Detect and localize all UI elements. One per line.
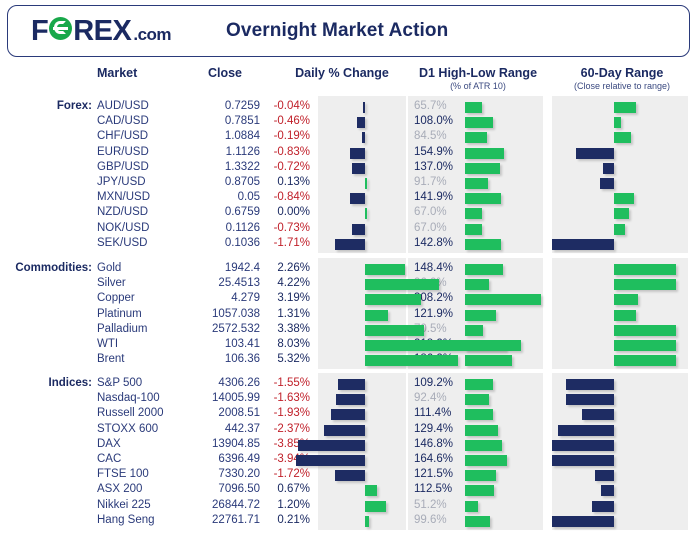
daily-change-bar (350, 148, 365, 159)
row-close-value: 22761.71 (170, 514, 260, 526)
column-header-d1-range: D1 High-Low Range (% of ATR 10) (408, 66, 548, 91)
row-d1-range-value: 154.9% (414, 146, 460, 158)
sixty-day-range-bar (614, 355, 676, 366)
table-row: NOK/USD0.1126-0.73%67.0% (0, 222, 697, 237)
row-market-name: DAX (97, 438, 121, 450)
daily-change-bar (365, 264, 405, 275)
d1-range-bar (465, 470, 496, 481)
row-close-value: 2008.51 (170, 407, 260, 419)
d1-range-bar (465, 455, 507, 466)
table-row: ASX 2007096.500.67%112.5% (0, 483, 697, 498)
row-daily-change-value: 3.19% (262, 292, 310, 304)
sixty-day-range-bar (582, 409, 614, 420)
d1-range-bar (465, 193, 501, 204)
row-daily-change-value: -0.84% (262, 191, 310, 203)
row-close-value: 4306.26 (170, 377, 260, 389)
table-row: JPY/USD0.87050.13%91.7% (0, 176, 697, 191)
column-header-market: Market (97, 66, 182, 80)
d1-range-bar (465, 440, 502, 451)
row-d1-range-value: 99.6% (414, 514, 460, 526)
row-market-name: Platinum (97, 308, 142, 320)
row-market-name: ASX 200 (97, 483, 142, 495)
row-daily-change-value: -0.83% (262, 146, 310, 158)
daily-change-bar (335, 239, 365, 250)
sixty-day-range-bar (566, 379, 614, 390)
row-close-value: 0.1126 (170, 222, 260, 234)
row-market-name: STOXX 600 (97, 423, 158, 435)
row-d1-range-value: 308.2% (414, 292, 460, 304)
row-close-value: 0.7259 (170, 100, 260, 112)
row-market-name: NZD/USD (97, 206, 148, 218)
daily-change-bar (365, 501, 386, 512)
row-daily-change-value: 0.13% (262, 176, 310, 188)
row-d1-range-value: 67.0% (414, 222, 460, 234)
row-daily-change-value: -1.71% (262, 237, 310, 249)
sixty-day-range-bar (566, 394, 614, 405)
daily-change-bar (352, 224, 365, 235)
row-close-value: 0.1036 (170, 237, 260, 249)
sixty-day-range-bar (552, 455, 614, 466)
row-d1-range-value: 67.0% (414, 206, 460, 218)
page-title: Overnight Market Action (226, 20, 448, 42)
row-market-name: SEK/USD (97, 237, 148, 249)
row-close-value: 1942.4 (170, 262, 260, 274)
row-d1-range-value: 141.9% (414, 191, 460, 203)
d1-range-bar (465, 501, 478, 512)
d1-range-bar (465, 294, 541, 305)
row-d1-range-value: 92.4% (414, 392, 460, 404)
row-daily-change-value: 3.38% (262, 323, 310, 335)
column-header-d1-range-sub: (% of ATR 10) (408, 81, 548, 91)
row-daily-change-value: 1.31% (262, 308, 310, 320)
sixty-day-range-bar (595, 470, 614, 481)
sixty-day-range-bar (614, 294, 638, 305)
d1-range-bar (465, 425, 498, 436)
row-market-name: Brent (97, 353, 125, 365)
sixty-day-range-bar (601, 485, 614, 496)
row-close-value: 0.7851 (170, 115, 260, 127)
row-market-name: Copper (97, 292, 135, 304)
d1-range-bar (465, 310, 496, 321)
d1-range-bar (465, 394, 489, 405)
row-daily-change-value: 0.67% (262, 483, 310, 495)
row-close-value: 7330.20 (170, 468, 260, 480)
row-market-name: CAC (97, 453, 121, 465)
daily-change-bar (365, 325, 424, 336)
row-d1-range-value: 129.4% (414, 423, 460, 435)
table-row: MXN/USD0.05-0.84%141.9% (0, 191, 697, 206)
table-row: CHF/USD1.0884-0.19%84.5% (0, 130, 697, 145)
table-row: GBP/USD1.3322-0.72%137.0% (0, 161, 697, 176)
d1-range-bar (465, 117, 493, 128)
logo-letter-f: F (31, 17, 48, 46)
euro-circle-icon (49, 17, 72, 40)
row-daily-change-value: -1.55% (262, 377, 310, 389)
sixty-day-range-bar (614, 132, 631, 143)
column-header-d1-range-label: D1 High-Low Range (419, 66, 537, 80)
row-daily-change-value: 1.20% (262, 499, 310, 511)
row-close-value: 4.279 (170, 292, 260, 304)
row-daily-change-value: -0.46% (262, 115, 310, 127)
row-daily-change-value: -1.93% (262, 407, 310, 419)
daily-change-bar (365, 355, 458, 366)
daily-change-bar (363, 102, 365, 113)
row-close-value: 13904.85 (170, 438, 260, 450)
column-header-daily-change: Daily % Change (277, 66, 407, 80)
row-market-name: JPY/USD (97, 176, 146, 188)
daily-change-bar (352, 163, 365, 174)
row-daily-change-value: 5.32% (262, 353, 310, 365)
row-close-value: 442.37 (170, 423, 260, 435)
row-d1-range-value: 91.7% (414, 176, 460, 188)
row-market-name: Silver (97, 277, 126, 289)
row-market-name: S&P 500 (97, 377, 142, 389)
row-daily-change-value: -1.72% (262, 468, 310, 480)
row-market-name: Hang Seng (97, 514, 155, 526)
row-d1-range-value: 108.0% (414, 115, 460, 127)
row-close-value: 1.0884 (170, 130, 260, 142)
d1-range-bar (465, 148, 504, 159)
column-header-close: Close (190, 66, 260, 80)
d1-range-bar (465, 340, 521, 351)
d1-range-bar (465, 355, 512, 366)
d1-range-bar (465, 325, 483, 336)
sixty-day-range-bar (576, 148, 614, 159)
sixty-day-range-bar (614, 102, 636, 113)
row-close-value: 1.3322 (170, 161, 260, 173)
row-close-value: 25.4513 (170, 277, 260, 289)
row-daily-change-value: -2.37% (262, 423, 310, 435)
row-market-name: Nikkei 225 (97, 499, 151, 511)
table-row: WTI103.418.03%218.2% (0, 338, 697, 353)
row-daily-change-value: 8.03% (262, 338, 310, 350)
daily-change-bar (365, 279, 439, 290)
d1-range-bar (465, 239, 501, 250)
d1-range-bar (465, 224, 482, 235)
row-close-value: 0.05 (170, 191, 260, 203)
d1-range-bar (465, 102, 482, 113)
daily-change-bar (335, 470, 365, 481)
row-daily-change-value: -0.72% (262, 161, 310, 173)
row-d1-range-value: 84.5% (414, 130, 460, 142)
d1-range-bar (465, 279, 489, 290)
d1-range-bar (465, 379, 493, 390)
row-close-value: 26844.72 (170, 499, 260, 511)
sixty-day-range-bar (614, 224, 625, 235)
daily-change-bar (365, 294, 421, 305)
daily-change-bar (296, 455, 365, 466)
d1-range-bar (465, 409, 493, 420)
sixty-day-range-bar (592, 501, 614, 512)
daily-change-bar (365, 178, 367, 189)
row-market-name: GBP/USD (97, 161, 149, 173)
market-dashboard: FREX.com Overnight Market Action Market … (0, 0, 697, 540)
row-daily-change-value: 4.22% (262, 277, 310, 289)
d1-range-bar (465, 132, 487, 143)
column-header-60day-range-label: 60-Day Range (581, 66, 664, 80)
row-market-name: EUR/USD (97, 146, 149, 158)
row-d1-range-value: 111.4% (414, 407, 460, 419)
sixty-day-range-bar (614, 193, 634, 204)
table-row: Copper4.2793.19%308.2% (0, 292, 697, 307)
row-market-name: AUD/USD (97, 100, 149, 112)
sixty-day-range-bar (558, 425, 614, 436)
sixty-day-range-bar (552, 239, 614, 250)
sixty-day-range-bar (614, 310, 636, 321)
row-close-value: 103.41 (170, 338, 260, 350)
forex-logo: FREX.com (31, 17, 171, 46)
row-market-name: MXN/USD (97, 191, 150, 203)
sixty-day-range-bar (552, 440, 614, 451)
daily-change-bar (324, 425, 365, 436)
d1-range-bar (465, 516, 490, 527)
sixty-day-range-bar (614, 325, 676, 336)
daily-change-bar (350, 193, 365, 204)
column-header-row: Market Close Daily % Change D1 High-Low … (0, 61, 697, 95)
d1-range-bar (465, 485, 494, 496)
row-market-name: CAD/USD (97, 115, 149, 127)
column-header-60day-range-sub: (Close relative to range) (552, 81, 692, 91)
row-d1-range-value: 142.8% (414, 237, 460, 249)
d1-range-bar (465, 178, 488, 189)
row-market-name: Russell 2000 (97, 407, 163, 419)
row-d1-range-value: 146.8% (414, 438, 460, 450)
row-daily-change-value: 2.26% (262, 262, 310, 274)
daily-change-bar (365, 485, 377, 496)
table-row: Gold1942.42.26%148.4% (0, 262, 697, 277)
daily-change-bar (357, 117, 365, 128)
row-close-value: 0.8705 (170, 176, 260, 188)
row-market-name: NOK/USD (97, 222, 149, 234)
row-d1-range-value: 65.7% (414, 100, 460, 112)
row-d1-range-value: 121.9% (414, 308, 460, 320)
row-close-value: 6396.49 (170, 453, 260, 465)
table-row: AUD/USD0.7259-0.04%65.7% (0, 100, 697, 115)
daily-change-bar (362, 132, 365, 143)
row-d1-range-value: 148.4% (414, 262, 460, 274)
table-row: Palladium2572.5323.38%70.5% (0, 323, 697, 338)
row-d1-range-value: 112.5% (414, 483, 460, 495)
sixty-day-range-bar (603, 163, 614, 174)
row-close-value: 2572.532 (170, 323, 260, 335)
row-close-value: 14005.99 (170, 392, 260, 404)
row-daily-change-value: -0.73% (262, 222, 310, 234)
logo-wordmark: FREX.com (31, 17, 171, 46)
sixty-day-range-bar (552, 516, 614, 527)
row-daily-change-value: -0.04% (262, 100, 310, 112)
daily-change-bar (331, 409, 365, 420)
column-header-60day-range: 60-Day Range (Close relative to range) (552, 66, 692, 91)
row-close-value: 106.36 (170, 353, 260, 365)
sixty-day-range-bar (600, 178, 614, 189)
daily-change-bar (338, 379, 365, 390)
d1-range-bar (465, 163, 500, 174)
row-close-value: 0.6759 (170, 206, 260, 218)
row-daily-change-value: -0.19% (262, 130, 310, 142)
daily-change-bar (336, 394, 365, 405)
row-d1-range-value: 164.6% (414, 453, 460, 465)
row-d1-range-value: 51.2% (414, 499, 460, 511)
sixty-day-range-bar (614, 264, 676, 275)
row-d1-range-value: 121.5% (414, 468, 460, 480)
d1-range-bar (465, 208, 482, 219)
d1-range-bar (465, 264, 503, 275)
table-row: Brent106.365.32%186.2% (0, 353, 697, 368)
row-d1-range-value: 109.2% (414, 377, 460, 389)
daily-change-bar (365, 516, 369, 527)
table-row: Silver25.45134.22%96.0% (0, 277, 697, 292)
logo-com-suffix: .com (133, 26, 171, 43)
sixty-day-range-bar (614, 340, 676, 351)
logo-letters-rex: REX (73, 17, 131, 46)
row-market-name: Nasdaq-100 (97, 392, 160, 404)
row-market-name: Palladium (97, 323, 148, 335)
daily-change-bar (365, 208, 367, 219)
row-market-name: CHF/USD (97, 130, 148, 142)
row-d1-range-value: 137.0% (414, 161, 460, 173)
row-daily-change-value: -1.63% (262, 392, 310, 404)
table-row: Platinum1057.0381.31%121.9% (0, 308, 697, 323)
app-header: FREX.com Overnight Market Action (7, 5, 690, 57)
sixty-day-range-bar (614, 117, 621, 128)
row-close-value: 1057.038 (170, 308, 260, 320)
row-market-name: Gold (97, 262, 121, 274)
row-daily-change-value: 0.00% (262, 206, 310, 218)
sixty-day-range-bar (614, 279, 676, 290)
row-close-value: 7096.50 (170, 483, 260, 495)
row-daily-change-value: 0.21% (262, 514, 310, 526)
daily-change-bar (365, 310, 388, 321)
row-close-value: 1.1126 (170, 146, 260, 158)
daily-change-bar (298, 440, 365, 451)
row-market-name: FTSE 100 (97, 468, 149, 480)
table-row: CAD/USD0.7851-0.46%108.0% (0, 115, 697, 130)
row-market-name: WTI (97, 338, 118, 350)
table-row: NZD/USD0.67590.00%67.0% (0, 206, 697, 221)
sixty-day-range-bar (614, 208, 629, 219)
